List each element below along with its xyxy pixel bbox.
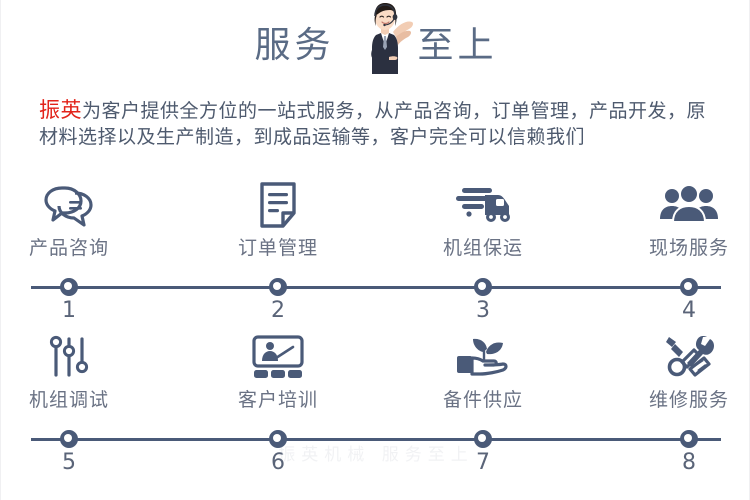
timeline-axis-line: [31, 286, 721, 289]
timeline-dot: [474, 278, 492, 296]
people-group-icon: [609, 178, 750, 232]
timeline-number: 2: [248, 298, 308, 323]
customer-service-woman-image: [353, 2, 417, 74]
timeline-number: 7: [453, 450, 513, 475]
service-promise-banner: 服务 至上: [0, 0, 750, 500]
title-left-text: 服务: [255, 16, 335, 68]
timeline-item-label: 备件供应: [403, 388, 563, 412]
timeline-number: 4: [659, 298, 719, 323]
timeline-item-2[interactable]: 订单管理: [198, 178, 358, 260]
sliders-icon: [0, 330, 149, 384]
timeline-dot: [680, 430, 698, 448]
document-icon: [198, 178, 358, 232]
timeline-dot: [680, 278, 698, 296]
timeline-dot: [269, 278, 287, 296]
timeline-item-label: 客户培训: [198, 388, 358, 412]
timeline-number: 5: [39, 450, 99, 475]
delivery-truck-icon: [403, 178, 563, 232]
chat-bubbles-icon: [0, 178, 149, 232]
timeline-row-1: 产品咨询 订单管理: [1, 178, 750, 328]
timeline-number: 6: [248, 450, 308, 475]
timeline-number: 8: [659, 450, 719, 475]
timeline-item-label: 产品咨询: [0, 236, 149, 260]
timeline-dot: [474, 430, 492, 448]
timeline-number: 3: [453, 298, 513, 323]
timeline-item-label: 机组调试: [0, 388, 149, 412]
timeline-item-5[interactable]: 机组调试: [0, 330, 149, 412]
banner-header: 服务 至上: [1, 0, 749, 78]
timeline-dot: [269, 430, 287, 448]
timeline-item-3[interactable]: 机组保运: [403, 178, 563, 260]
brand-name: 振英: [39, 98, 82, 122]
hand-leaf-icon: [403, 330, 563, 384]
timeline-item-label: 订单管理: [198, 236, 358, 260]
timeline-axis-line: [31, 438, 721, 441]
timeline-item-label: 机组保运: [403, 236, 563, 260]
timeline-dot: [60, 278, 78, 296]
timeline-number: 1: [39, 298, 99, 323]
timeline-item-label: 维修服务: [609, 388, 750, 412]
title-right-text: 至上: [417, 16, 497, 68]
timeline-row-2: 机组调试 客户培训: [1, 330, 750, 480]
intro-body-text: 为客户提供全方位的一站式服务，从产品咨询，订单管理，产品开发，原材料选择以及生产…: [39, 100, 706, 148]
timeline-item-8[interactable]: 维修服务: [609, 330, 750, 412]
wrench-screwdriver-icon: [609, 330, 750, 384]
timeline-item-7[interactable]: 备件供应: [403, 330, 563, 412]
timeline-item-4[interactable]: 现场服务: [609, 178, 750, 260]
timeline-item-6[interactable]: 客户培训: [198, 330, 358, 412]
timeline-item-label: 现场服务: [609, 236, 750, 260]
intro-paragraph: 振英为客户提供全方位的一站式服务，从产品咨询，订单管理，产品开发，原材料选择以及…: [39, 97, 719, 150]
presentation-icon: [198, 330, 358, 384]
timeline-dot: [60, 430, 78, 448]
timeline-item-1[interactable]: 产品咨询: [0, 178, 149, 260]
